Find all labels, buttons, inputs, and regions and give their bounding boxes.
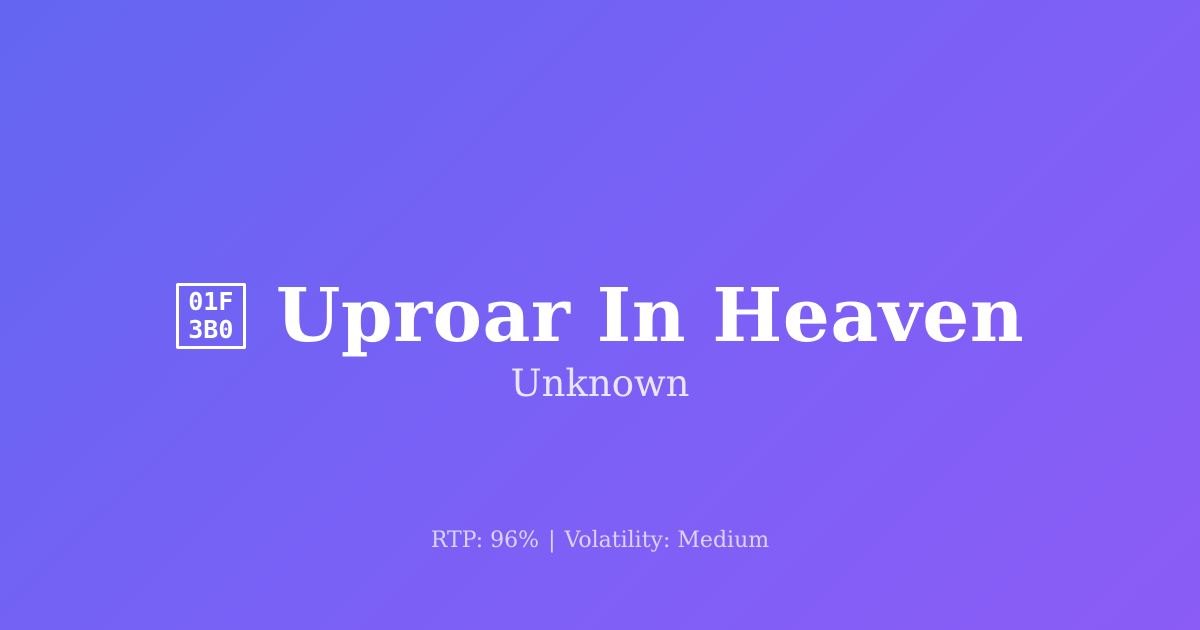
slot-machine-icon: 01F 3B0 — [176, 283, 246, 349]
page-title: Uproar In Heaven — [276, 278, 1024, 356]
volatility-value: Medium — [677, 528, 769, 553]
social-preview-card: 01F 3B0 Uproar In Heaven Unknown RTP: 96… — [0, 0, 1200, 630]
volatility-label: Volatility: — [565, 528, 671, 553]
provider-name: Unknown — [0, 363, 1200, 406]
rtp-value: 96% — [490, 528, 539, 553]
game-meta: RTP: 96% | Volatility: Medium — [0, 528, 1200, 554]
slot-machine-icon-codepoint-line1: 01F — [188, 288, 233, 316]
slot-machine-icon-codepoint-line2: 3B0 — [188, 316, 233, 344]
rtp-label: RTP: — [431, 528, 483, 553]
meta-separator: | — [546, 528, 557, 553]
